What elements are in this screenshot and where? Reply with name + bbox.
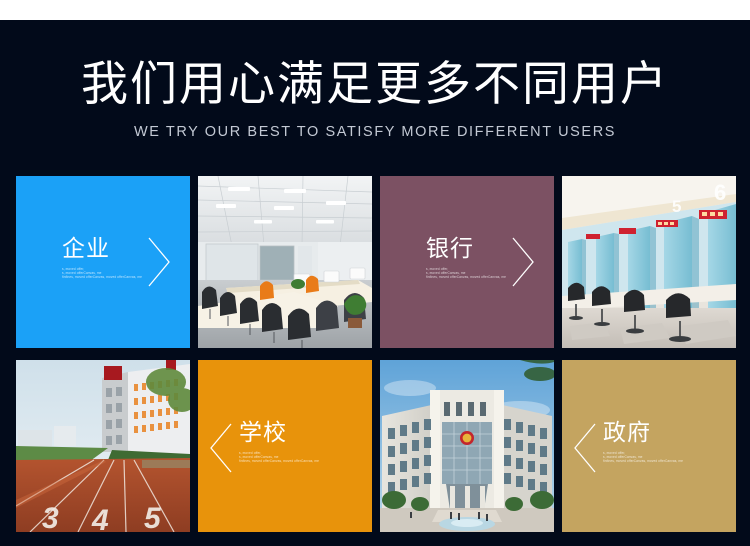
svg-text:3: 3 xyxy=(42,502,59,532)
svg-text:6: 6 xyxy=(714,180,726,205)
card-bank-subline: finfines, moved offerCanvas, moved offer… xyxy=(426,275,506,279)
card-government-caption: 政府 s, moved offer, s, moved offerCanvas,… xyxy=(572,420,683,474)
chevron-left-icon[interactable] xyxy=(208,422,234,474)
card-bank-caption: 银行 s, moved offer, s, moved offerCanvas,… xyxy=(426,236,536,288)
chevron-right-icon[interactable] xyxy=(510,236,536,288)
card-government[interactable]: 政府 s, moved offer, s, moved offerCanvas,… xyxy=(562,360,736,532)
card-bank-title: 银行 xyxy=(426,236,506,262)
card-enterprise-subline: finfines, moved offerCanvas, moved offer… xyxy=(62,275,142,279)
card-bank[interactable]: 银行 s, moved offer, s, moved offerCanvas,… xyxy=(380,176,554,348)
page-subtitle: WE TRY OUR BEST TO SATISFY MORE DIFFEREN… xyxy=(0,124,750,141)
card-government-title: 政府 xyxy=(603,420,683,446)
chevron-right-icon[interactable] xyxy=(146,236,172,288)
card-school-track-photo[interactable]: 3 4 5 xyxy=(16,360,190,532)
card-enterprise-caption: 企业 s, moved offer, s, moved offerCanvas,… xyxy=(62,236,172,288)
card-row: 企业 s, moved offer, s, moved offerCanvas,… xyxy=(16,176,734,348)
card-enterprise-title: 企业 xyxy=(62,236,142,262)
government-building-image xyxy=(380,360,554,532)
card-school-title: 学校 xyxy=(239,420,319,446)
card-enterprise-subtext: s, moved offer, s, moved offerCanvas, me… xyxy=(62,267,142,279)
svg-text:5: 5 xyxy=(672,197,681,216)
card-bank-subtext: s, moved offer, s, moved offerCanvas, me… xyxy=(426,267,506,279)
svg-text:4: 4 xyxy=(91,504,109,532)
card-school-caption: 学校 s, moved offer, s, moved offerCanvas,… xyxy=(208,420,319,474)
card-enterprise[interactable]: 企业 s, moved offer, s, moved offerCanvas,… xyxy=(16,176,190,348)
card-school[interactable]: 学校 s, moved offer, s, moved offerCanvas,… xyxy=(198,360,372,532)
page-title: 我们用心满足更多不同用户 xyxy=(0,58,750,112)
card-school-subtext: s, moved offer, s, moved offerCanvas, me… xyxy=(239,451,319,463)
card-office-photo[interactable] xyxy=(198,176,372,348)
card-government-subline: finfines, moved offerCanvas, moved offer… xyxy=(603,459,683,463)
card-bank-counter-photo[interactable]: 5 6 xyxy=(562,176,736,348)
card-school-subline: finfines, moved offerCanvas, moved offer… xyxy=(239,459,319,463)
card-government-subtext: s, moved offer, s, moved offerCanvas, me… xyxy=(603,451,683,463)
office-image xyxy=(198,176,372,348)
chevron-left-icon[interactable] xyxy=(572,422,598,474)
card-row: 3 4 5 学校 xyxy=(16,360,734,532)
school-track-image: 3 4 5 xyxy=(16,360,190,532)
bank-counter-image: 5 6 xyxy=(562,176,736,348)
page-heading: 我们用心满足更多不同用户 WE TRY OUR BEST TO SATISFY … xyxy=(0,58,750,141)
card-grid: 企业 s, moved offer, s, moved offerCanvas,… xyxy=(16,176,734,532)
page-root: 我们用心满足更多不同用户 WE TRY OUR BEST TO SATISFY … xyxy=(0,0,750,546)
card-government-building-photo[interactable] xyxy=(380,360,554,532)
svg-text:5: 5 xyxy=(144,502,162,532)
